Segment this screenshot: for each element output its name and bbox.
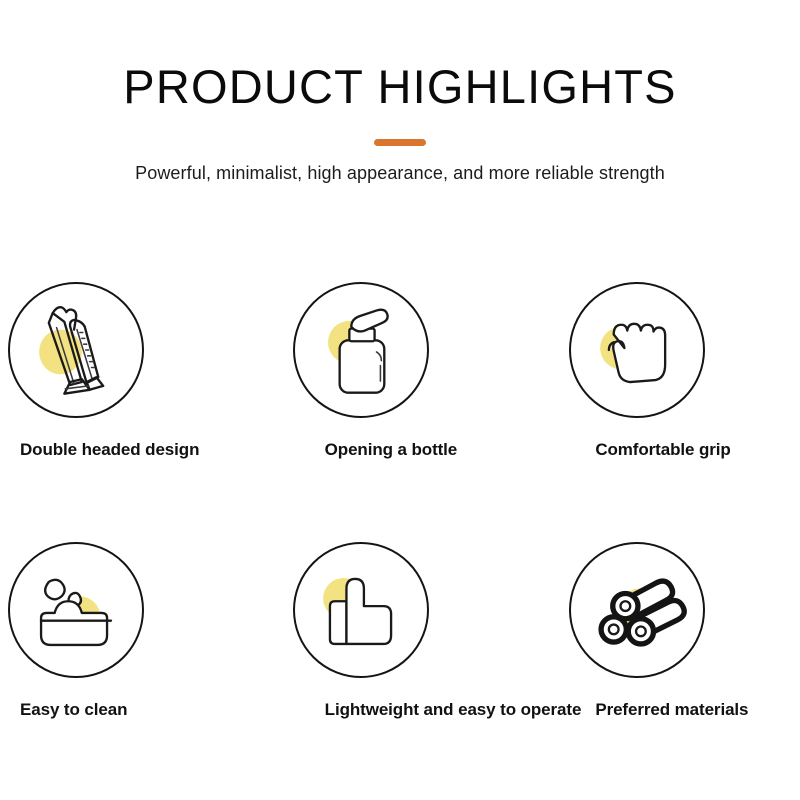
title-divider [374,139,426,146]
icon-slot [267,282,534,432]
feature-item-preferred-materials: Preferred materials [533,532,800,792]
icon-circle [293,542,429,678]
fist-grip-icon [571,284,703,416]
icon-circle [569,542,705,678]
icon-circle [8,282,144,418]
header: PRODUCT HIGHLIGHTS Powerful, minimalist,… [0,62,800,184]
product-highlights-page: PRODUCT HIGHLIGHTS Powerful, minimalist,… [0,0,800,800]
feature-label: Opening a bottle [325,440,458,460]
wash-basin-icon [10,544,142,676]
feature-label: Comfortable grip [595,440,730,460]
page-subtitle: Powerful, minimalist, high appearance, a… [0,163,800,184]
icon-slot [533,542,800,692]
features-grid: Double headed design Opening a bottle [0,272,800,792]
page-title: PRODUCT HIGHLIGHTS [0,62,800,111]
thumbs-up-icon [295,544,427,676]
icon-circle [8,542,144,678]
bottle-opener-icon [295,284,427,416]
feature-item-double-headed-design: Double headed design [0,272,267,532]
feature-label: Easy to clean [20,700,127,720]
stacked-tubes-icon [571,544,703,676]
icon-slot [0,542,267,692]
icon-circle [293,282,429,418]
icon-slot [267,542,534,692]
feature-label: Double headed design [20,440,199,460]
icon-circle [569,282,705,418]
feature-item-comfortable-grip: Comfortable grip [533,272,800,532]
feature-item-easy-to-clean: Easy to clean [0,532,267,792]
feature-item-lightweight-easy-operate: Lightweight and easy to operate [267,532,534,792]
icon-slot [0,282,267,432]
feature-item-opening-a-bottle: Opening a bottle [267,272,534,532]
feature-label: Preferred materials [595,700,748,720]
icon-slot [533,282,800,432]
double-headed-tool-icon [10,284,142,416]
title-divider-wrap [0,137,800,147]
